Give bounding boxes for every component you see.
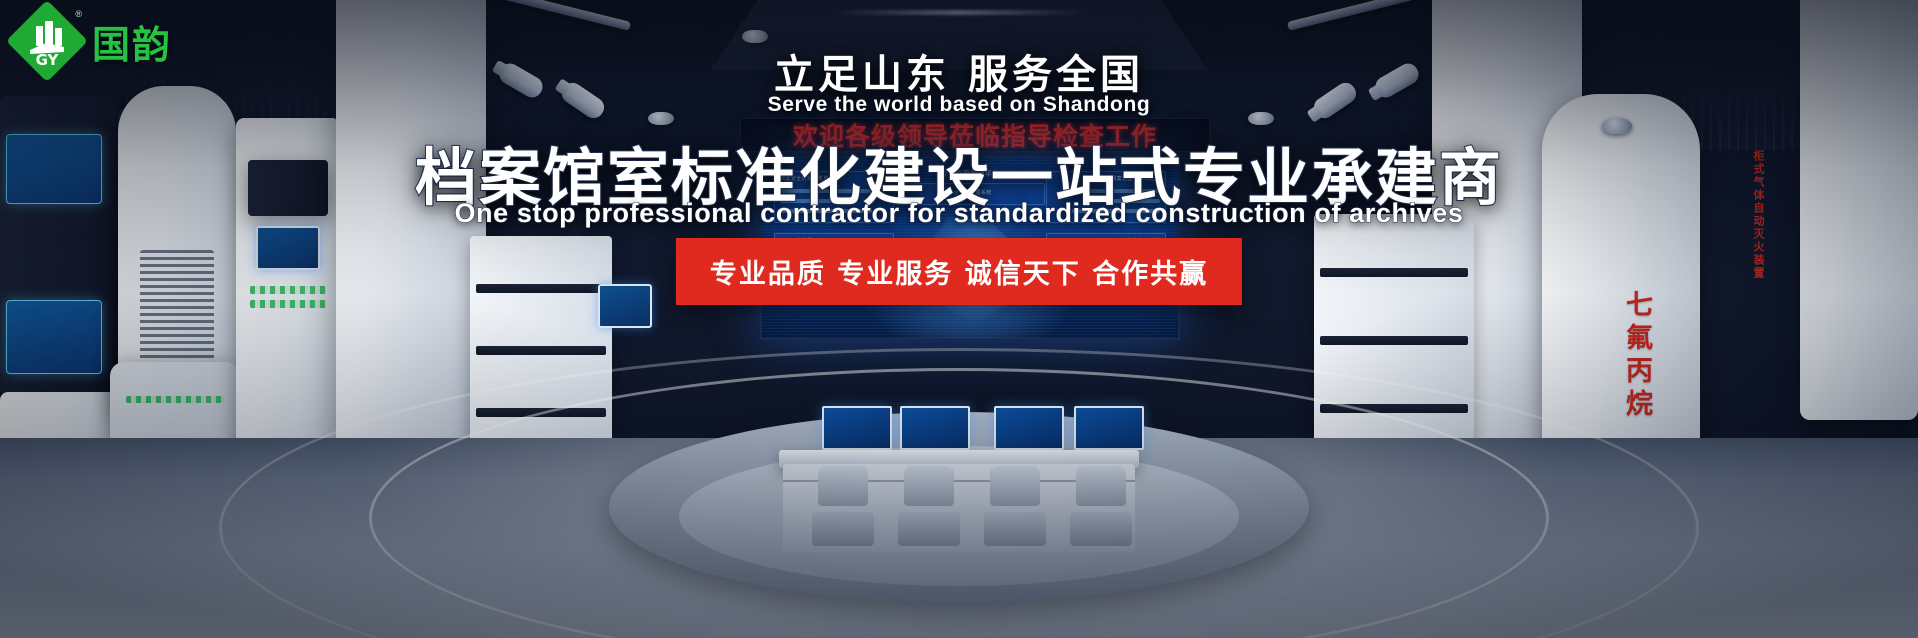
brand-logo[interactable]: GY ® 国韵: [14, 8, 172, 74]
logo-inner-glyphs: GY: [14, 8, 80, 74]
hero-kicker-cn: 立足山东 服务全国: [0, 42, 1918, 100]
brand-name-cn: 国韵: [92, 14, 172, 69]
hero-cta-banner[interactable]: 专业品质 专业服务 诚信天下 合作共赢: [676, 238, 1242, 305]
registered-trademark-icon: ®: [75, 9, 82, 19]
hero-text-overlay: 立足山东 服务全国 Serve the world based on Shand…: [0, 0, 1918, 638]
hero-subline-en: One stop professional contractor for sta…: [0, 198, 1918, 229]
hero-kicker-en: Serve the world based on Shandong: [0, 93, 1918, 117]
guoyun-diamond-logo-icon: GY ®: [14, 8, 80, 74]
hero-cta-label: 专业品质 专业服务 诚信天下 合作共赢: [710, 252, 1208, 291]
hero-banner: 欢迎各级领导莅临指导检查工作 档案安全防护优秀单位 库房环境监测 档案馆室标准化…: [0, 0, 1918, 638]
svg-text:GY: GY: [36, 51, 60, 69]
